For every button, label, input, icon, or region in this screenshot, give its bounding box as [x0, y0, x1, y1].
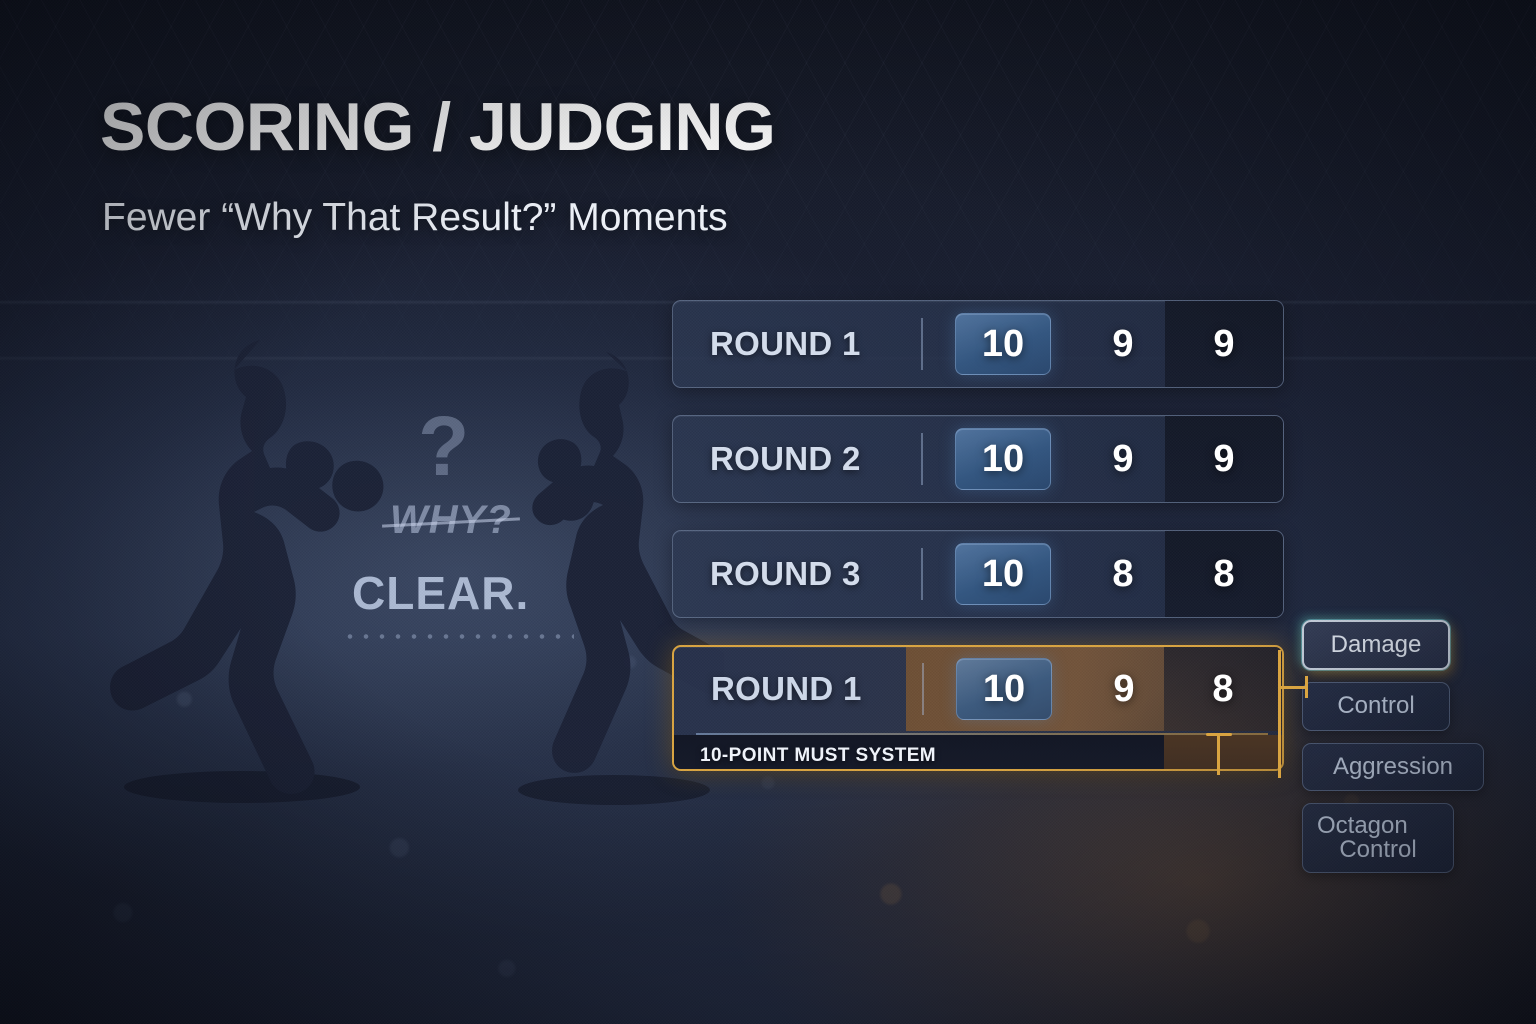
- criteria-chip-damage[interactable]: Damage: [1302, 620, 1450, 670]
- caption-bar-warm: [1164, 735, 1282, 769]
- score-judge-1: 10: [955, 543, 1051, 605]
- scoring-system-caption: 10-POINT MUST SYSTEM: [700, 745, 936, 767]
- clear-label: CLEAR.: [352, 566, 529, 620]
- scorecard-row[interactable]: ROUND 1 10 9 9: [672, 300, 1284, 388]
- score-group: 10 9 8: [924, 647, 1282, 731]
- round-label: ROUND 2: [673, 440, 921, 478]
- score-group: 10 9 9: [923, 301, 1283, 387]
- criteria-chip-aggression[interactable]: Aggression: [1302, 743, 1484, 791]
- score-judge-3: 9: [1165, 325, 1283, 363]
- score-judge-2: 9: [1076, 670, 1172, 708]
- row-top: ROUND 1 10 9 8: [674, 647, 1282, 731]
- score-judge-3: 9: [1165, 440, 1283, 478]
- scorecard-row[interactable]: ROUND 2 10 9 9: [672, 415, 1284, 503]
- round-label: ROUND 3: [673, 555, 921, 593]
- score-judge-2: 9: [1075, 440, 1171, 478]
- criteria-chip-control[interactable]: Control: [1302, 682, 1450, 730]
- score-judge-1: 10: [955, 313, 1051, 375]
- scorecard: ROUND 1 10 9 9 ROUND 2 10 9 9 ROUND 3 10: [672, 300, 1284, 798]
- dotted-divider: [342, 634, 574, 639]
- slide-stage: ? WHY? CLEAR. SCORING / JUDGING Fewer “W…: [0, 0, 1536, 1024]
- page-title: SCORING / JUDGING: [100, 88, 775, 166]
- round-label: ROUND 1: [674, 670, 922, 708]
- scorecard-row-highlighted[interactable]: ROUND 1 10 9 8 10-POINT MUST SYSTEM: [672, 645, 1284, 771]
- struck-why-label: WHY?: [390, 498, 512, 543]
- fighter-silhouette-left: [82, 332, 412, 812]
- question-mark-glyph: ?: [418, 404, 469, 488]
- score-group: 10 9 9: [923, 416, 1283, 502]
- octagon-control-line-1: Octagon: [1317, 814, 1439, 838]
- page-subtitle: Fewer “Why That Result?” Moments: [102, 196, 728, 240]
- round-label: ROUND 1: [673, 325, 921, 363]
- criteria-chip-octagon-control[interactable]: Octagon Control: [1302, 803, 1454, 873]
- scorecard-row[interactable]: ROUND 3 10 8 8: [672, 530, 1284, 618]
- score-judge-1: 10: [956, 658, 1052, 720]
- score-judge-1: 10: [955, 428, 1051, 490]
- judging-criteria-list: Damage Control Aggression Octagon Contro…: [1302, 620, 1502, 885]
- score-judge-2: 8: [1075, 555, 1171, 593]
- caption-separator: [696, 733, 1268, 735]
- score-judge-3: 8: [1165, 555, 1283, 593]
- octagon-control-line-2: Control: [1317, 838, 1439, 862]
- score-judge-3: 8: [1164, 670, 1282, 708]
- score-judge-2: 9: [1075, 325, 1171, 363]
- score-group: 10 8 8: [923, 531, 1283, 617]
